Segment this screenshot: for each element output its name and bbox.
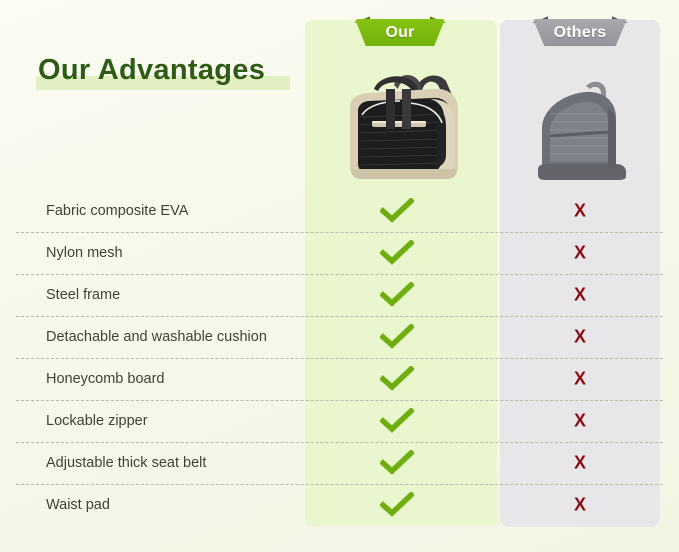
table-row: Detachable and washable cushion X xyxy=(0,316,679,358)
others-cross-icon: X xyxy=(550,411,610,432)
ours-check-icon xyxy=(367,324,427,350)
others-cross-icon: X xyxy=(550,369,610,390)
column-header-ours: Our xyxy=(355,10,445,46)
product-image-ours xyxy=(334,55,470,183)
feature-label: Fabric composite EVA xyxy=(46,203,188,219)
ours-check-icon xyxy=(367,198,427,224)
feature-label: Waist pad xyxy=(46,497,110,513)
others-cross-icon: X xyxy=(550,495,610,516)
column-header-ours-label: Our xyxy=(355,19,445,46)
others-cross-icon: X xyxy=(550,201,610,222)
table-row: Fabric composite EVA X xyxy=(0,190,679,232)
feature-rows: Fabric composite EVA X Nylon mesh X Stee… xyxy=(0,190,679,526)
column-header-others-label: Others xyxy=(533,19,627,46)
others-cross-icon: X xyxy=(550,243,610,264)
ours-check-icon xyxy=(367,240,427,266)
column-header-others: Others xyxy=(533,10,627,46)
feature-label: Adjustable thick seat belt xyxy=(46,455,206,471)
page-title: Our Advantages xyxy=(38,54,265,87)
table-row: Lockable zipper X xyxy=(0,400,679,442)
others-cross-icon: X xyxy=(550,327,610,348)
table-row: Adjustable thick seat belt X xyxy=(0,442,679,484)
feature-label: Nylon mesh xyxy=(46,245,123,261)
table-row: Waist pad X xyxy=(0,484,679,526)
ours-check-icon xyxy=(367,408,427,434)
ours-check-icon xyxy=(367,282,427,308)
ours-check-icon xyxy=(367,450,427,476)
ours-check-icon xyxy=(367,366,427,392)
feature-label: Steel frame xyxy=(46,287,120,303)
comparison-chart: Our Others Our Advantages xyxy=(0,0,679,552)
others-cross-icon: X xyxy=(550,285,610,306)
feature-label: Lockable zipper xyxy=(46,413,148,429)
feature-label: Detachable and washable cushion xyxy=(46,329,267,345)
table-row: Honeycomb board X xyxy=(0,358,679,400)
page-title-text: Our Advantages xyxy=(38,54,265,87)
product-image-others xyxy=(520,58,642,184)
feature-label: Honeycomb board xyxy=(46,371,165,387)
ours-check-icon xyxy=(367,492,427,518)
table-row: Nylon mesh X xyxy=(0,232,679,274)
others-cross-icon: X xyxy=(550,453,610,474)
table-row: Steel frame X xyxy=(0,274,679,316)
